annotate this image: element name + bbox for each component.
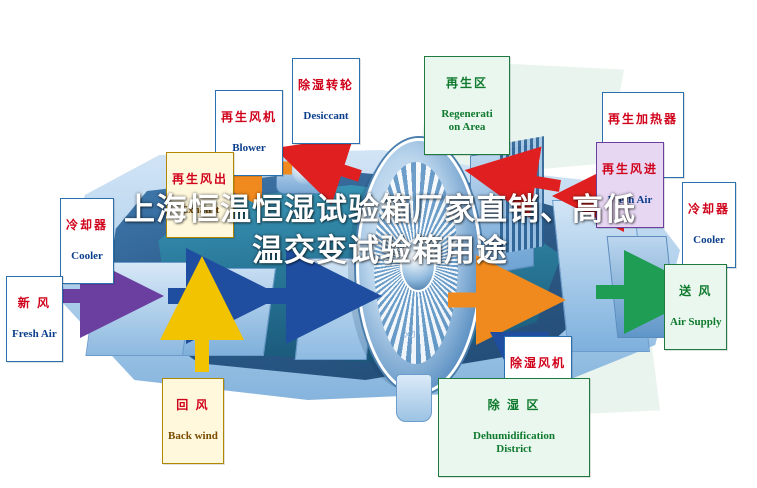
label-dehum-blower-cn: 除湿风机 [510, 357, 566, 370]
label-regen-heater-cn: 再生加热器 [608, 113, 678, 126]
label-air-supply: 送 风 Air Supply [664, 264, 727, 350]
label-regen-inlet-cn: 再生风进 [602, 163, 658, 176]
label-back-wind-en: Back wind [168, 430, 218, 442]
label-regeneration-area: 再生区 Regenerati on Area [424, 56, 510, 155]
label-cooler-right: 冷却器 Cooler [682, 182, 736, 268]
label-cooler-right-cn: 冷却器 [688, 203, 730, 216]
label-air-supply-cn: 送 风 [670, 285, 721, 298]
label-regeneration-area-en: Regenerati on Area [430, 108, 504, 133]
label-back-wind-cn: 回 风 [168, 399, 218, 412]
label-fresh-air-cn: 新 风 [12, 297, 57, 310]
label-air-supply-en: Air Supply [670, 316, 721, 328]
rotor-tiny-text: XJ [404, 330, 416, 341]
label-dehumidification-district-en: Dehumidification District [444, 430, 584, 455]
label-exhaust-en: Exhaust [172, 204, 228, 216]
label-desiccant-wheel-en: Desiccant [298, 110, 354, 122]
label-cooler-right-en: Cooler [688, 234, 730, 246]
label-fresh-air-en: Fresh Air [12, 328, 57, 340]
label-back-wind: 回 风 Back wind [162, 378, 224, 464]
label-desiccant-wheel-cn: 除湿转轮 [298, 79, 354, 92]
label-cooler-left-en: Cooler [66, 250, 108, 262]
label-regen-inlet-en: Fresh Air [602, 194, 658, 206]
label-exhaust: 再生风出 Exhaust [166, 152, 234, 238]
diagram-canvas: XJ 除湿转轮 Desiccant 再生风机 Blower 再生区 Regene… [0, 0, 757, 488]
label-regen-blower-cn: 再生风机 [221, 111, 277, 124]
label-desiccant-wheel: 除湿转轮 Desiccant [292, 58, 360, 144]
label-cooler-left-cn: 冷却器 [66, 219, 108, 232]
label-regeneration-area-cn: 再生区 [430, 77, 504, 90]
label-dehumidification-district: 除 湿 区 Dehumidification District [438, 378, 590, 477]
label-regen-inlet: 再生风进 Fresh Air [596, 142, 664, 228]
label-fresh-air: 新 风 Fresh Air [6, 276, 63, 362]
label-dehumidification-district-cn: 除 湿 区 [444, 399, 584, 412]
label-cooler-left: 冷却器 Cooler [60, 198, 114, 284]
label-exhaust-cn: 再生风出 [172, 173, 228, 186]
